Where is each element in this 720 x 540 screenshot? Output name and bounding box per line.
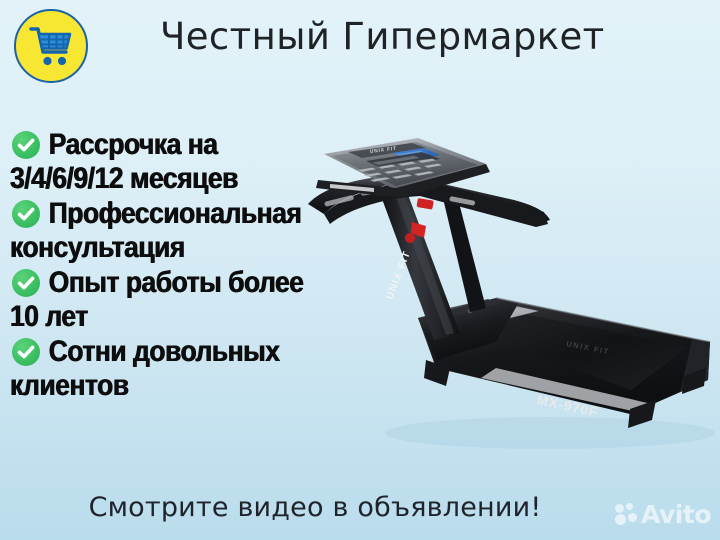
treadmill-image: MX-970F UNIX FIT UNIX FIT [300,128,720,468]
svg-text:UNIX FIT: UNIX FIT [385,249,414,301]
list-item-line: Рассрочка на [10,128,327,162]
call-to-action-text: Смотрите видео в объявлении! [0,492,720,523]
list-item-line: клиентов [10,369,327,403]
avito-wordmark: Avito [641,502,711,527]
promo-banner: Честный Гипермаркет Рассрочка на 3/4/6/9… [0,0,720,540]
banner-header: Честный Гипермаркет [0,0,720,92]
list-item-line: Сотни довольных [10,335,327,369]
avito-dots-icon [615,503,639,525]
list-item-line: 10 лет [10,300,327,334]
list-item-line: консультация [10,231,327,265]
avito-watermark: Avito [615,500,711,528]
list-item-line: 3/4/6/9/12 месяцев [10,162,327,196]
shopping-cart-logo [14,9,88,83]
list-item-line: Профессиональная [10,197,327,231]
list-item-line: Опыт работы более [10,266,327,300]
page-title: Честный Гипермаркет [160,15,605,58]
